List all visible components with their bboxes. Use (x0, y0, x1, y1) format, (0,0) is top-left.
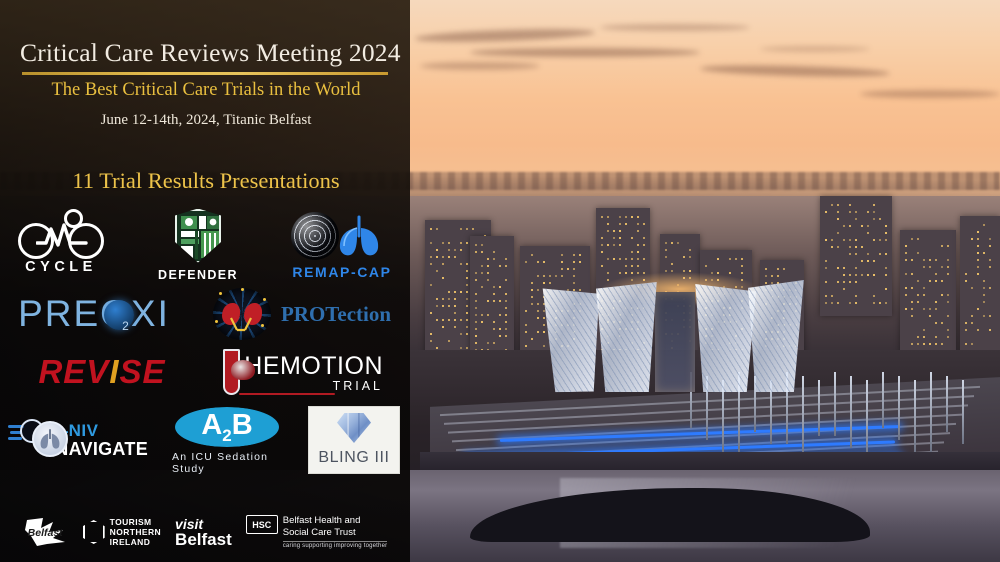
sponsor-line-2: NORTHERN (110, 527, 161, 537)
trial-wordmark-i: I (109, 353, 119, 390)
trial-wordmark-sub: TRIAL (244, 379, 383, 393)
globe-kidneys-icon (211, 286, 273, 342)
page-title: Critical Care Reviews Meeting 2024 (20, 38, 392, 68)
trial-wordmark-sub: An ICU Sedation Study (172, 451, 282, 475)
trial-wordmark: DEFENDER (158, 268, 238, 282)
sponsor-line-2: Social Care Trust (283, 527, 388, 539)
diamond-icon (337, 413, 371, 443)
trial-logo-a2b[interactable]: A2B An ICU Sedation Study (172, 405, 282, 475)
sponsor-line-2: Belfast (175, 531, 232, 548)
section-heading: 11 Trial Results Presentations (20, 168, 392, 194)
trial-logo-hemotion[interactable]: HEMOTION TRIAL (223, 349, 383, 395)
trial-logo-row: PREOXI 2 (0, 284, 410, 344)
poster: Critical Care Reviews Meeting 2024 The B… (0, 0, 1000, 562)
underline-accent (239, 393, 335, 395)
sponsor-row: Belfast TOURISM NORTHERN IRELAND visit B… (0, 508, 410, 556)
trial-logo-preoxi[interactable]: PREOXI 2 (11, 293, 177, 335)
hexagon-icon (83, 520, 105, 544)
lungs-icon (331, 214, 389, 258)
eye-icon: A2B (175, 405, 279, 449)
trial-wordmark: CYCLE (25, 259, 97, 275)
trial-logo-grid: CYCLE (0, 206, 410, 480)
lungs-badge-icon (34, 423, 66, 455)
trial-wordmark: A (201, 409, 222, 441)
dateline: June 12-14th, 2024, Titanic Belfast (20, 112, 392, 129)
sponsor-wordmark: Belfast Health and Social Care Trust (283, 515, 388, 539)
trial-logo-row: e-NIV NAVIGATE A2B An ICU Sedation Study (0, 400, 410, 480)
trial-wordmark: PREOXI (18, 293, 170, 334)
belfast-logo-icon: Belfast (23, 516, 69, 548)
shield-icon (175, 209, 221, 263)
a2b-wordmark: A2B (201, 409, 252, 446)
sponsor-tagline: caring supporting improving together (283, 541, 388, 549)
trial-logo-bling-iii[interactable]: BLING III (306, 406, 402, 474)
brain-icon (231, 360, 255, 380)
shield-pattern-icon (177, 211, 221, 263)
eniv-prefix-row: e-NIV (55, 422, 148, 440)
title-underline (22, 72, 388, 75)
trial-logo-cycle[interactable]: CYCLE (13, 215, 109, 275)
trial-wordmark-end: B (232, 409, 253, 441)
revise-wordmark-icon: REVISE (38, 353, 165, 391)
trial-wordmark-rest: Tection (325, 302, 391, 326)
trial-wordmark-mid: NIV (69, 421, 99, 440)
badge-icon (32, 421, 68, 457)
sponsor-line-1: visit (175, 517, 232, 531)
sponsor-line-1: TOURISM (110, 517, 161, 527)
shield-brain-icon (223, 349, 240, 395)
trial-wordmark-bold: PRO (281, 302, 325, 326)
sponsor-line-3: IRELAND (110, 537, 161, 547)
visit-belfast-icon: visit Belfast (175, 517, 232, 548)
sponsor-belfast[interactable]: Belfast (23, 516, 69, 548)
globe-lungs-icon (289, 210, 395, 262)
sponsor-tourism-northern-ireland[interactable]: TOURISM NORTHERN IRELAND (83, 517, 161, 547)
vessel-icon (227, 316, 257, 336)
sponsor-line-1: Belfast Health and (283, 515, 388, 527)
trial-wordmark-subscript: 2 (222, 425, 231, 444)
hsc-logo-icon: HSC (246, 515, 278, 534)
trial-logo-protection[interactable]: PROTection (203, 286, 399, 342)
trial-logo-remap-cap[interactable]: REMAP-CAP (287, 210, 397, 280)
trial-logo-revise[interactable]: REVISE (27, 353, 177, 391)
sponsor-wordmark: Belfast (28, 527, 63, 539)
oxygen-subscript: 2 (122, 319, 131, 333)
panel-content: Critical Care Reviews Meeting 2024 The B… (0, 0, 1000, 562)
trial-wordmark-part1: REV (38, 353, 109, 390)
trial-logo-row: REVISE HEMOTION TRIAL (0, 344, 410, 400)
ecg-path-icon (36, 221, 88, 249)
trial-wordmark: HEMOTION (244, 352, 383, 381)
trial-wordmark: NAVIGATE (55, 440, 148, 458)
sponsor-wordmark: TOURISM NORTHERN IRELAND (110, 517, 161, 547)
bling-card: BLING III (308, 406, 400, 474)
trial-wordmark: BLING III (318, 449, 389, 467)
sponsor-hsc-trust[interactable]: HSC Belfast Health and Social Care Trust… (246, 515, 388, 549)
bicycle-ecg-icon (18, 215, 104, 255)
preoxi-wordmark-icon: PREOXI 2 (18, 293, 170, 335)
trial-wordmark: REMAP-CAP (292, 264, 391, 280)
protection-wordmark: PROTection (281, 302, 391, 327)
trial-logo-row: CYCLE (0, 206, 410, 284)
subtitle: The Best Critical Care Trials in the Wor… (20, 80, 392, 101)
trial-logo-defender[interactable]: DEFENDER (155, 209, 241, 282)
trial-wordmark-part2: SE (120, 353, 166, 390)
sponsor-visit-belfast[interactable]: visit Belfast (175, 517, 232, 548)
trial-logo-eniv-navigate[interactable]: e-NIV NAVIGATE (8, 419, 148, 461)
clock-badge-icon (8, 419, 50, 461)
